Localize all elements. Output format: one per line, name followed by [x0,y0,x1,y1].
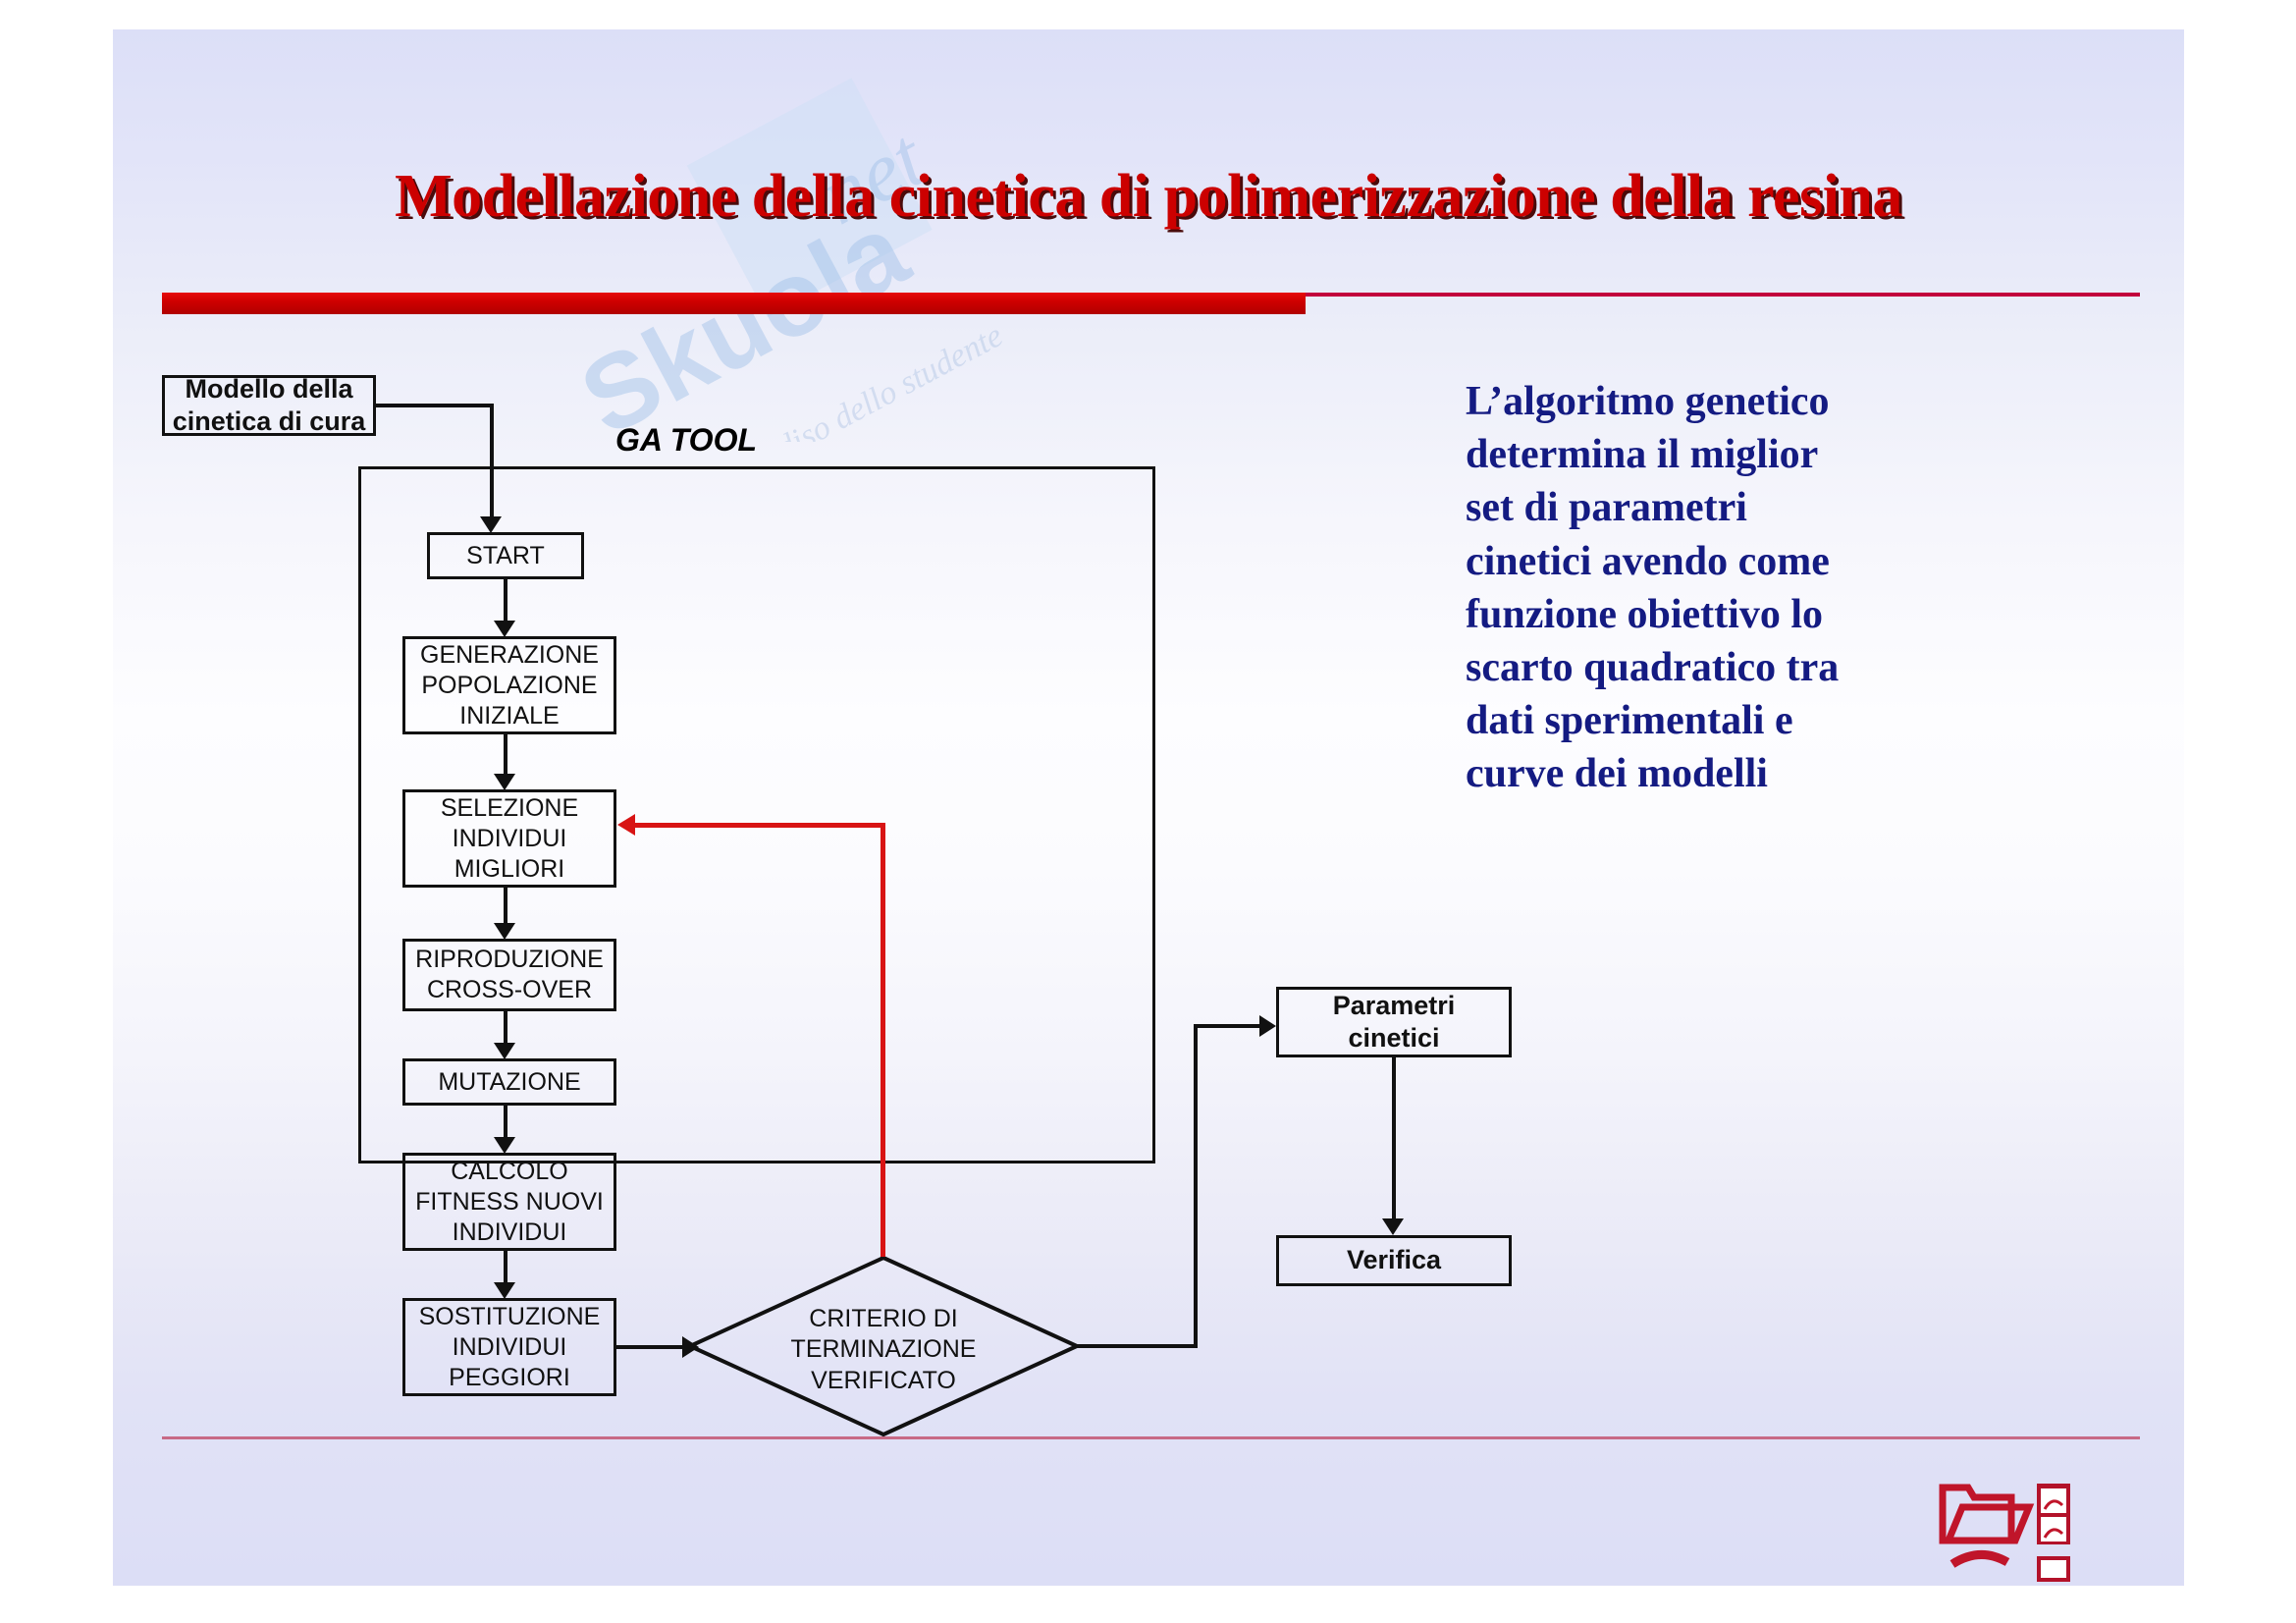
node-parametri-cinetici[interactable]: Parametri cinetici [1276,987,1512,1057]
edge-parametri-to-verifica-arrow [1382,1218,1404,1235]
paragraph-line: determina il miglior [1466,428,1976,481]
feedback-edge-arrow [617,814,635,836]
edge-start-arrow [494,621,515,637]
node-calcolo[interactable]: CALCOLO FITNESS NUOVI INDIVIDUI [402,1153,616,1251]
edge-riproduzione-arrow [494,1043,515,1059]
node-riproduzione[interactable]: RIPRODUZIONE CROSS-OVER [402,939,616,1011]
node-criterio-label: CRITERIO DI TERMINAZIONE VERIFICATO [687,1304,1080,1396]
footer-rule [162,1436,2140,1439]
title-rule-thick [162,293,1306,314]
screen-icon [2037,1556,2070,1582]
node-selezione[interactable]: SELEZIONE INDIVIDUI MIGLIORI [402,789,616,888]
edge-criterio-to-parametri-arrow [1259,1015,1276,1037]
paragraph-line: dati sperimentali e [1466,694,1976,747]
paragraph-line: cinetici avendo come [1466,535,1976,588]
paragraph-line: set di parametri [1466,481,1976,534]
edge-mutazione-arrow [494,1137,515,1154]
ga-tool-label: GA TOOL [615,422,757,459]
edge-sostituzione-to-criterio [616,1345,687,1349]
footer-icon-group [1939,1458,2135,1576]
edge-generazione-arrow [494,774,515,790]
skuolanet-watermark: Skuola net il paradiso dello studente [535,29,1163,442]
explanatory-paragraph: L’algoritmo genetico determina il miglio… [1466,375,1976,800]
node-start[interactable]: START [427,532,584,579]
edge-input-to-start-h [374,404,494,407]
paragraph-line: L’algoritmo genetico [1466,375,1976,428]
node-riproduzione-label: RIPRODUZIONE CROSS-OVER [415,945,604,1005]
node-modello-cinetica-label: Modello della cinetica di cura [173,373,366,439]
node-verifica[interactable]: Verifica [1276,1235,1512,1286]
node-mutazione[interactable]: MUTAZIONE [402,1058,616,1106]
edge-parametri-to-verifica [1392,1057,1396,1226]
edge-calcolo-arrow [494,1282,515,1299]
node-sostituzione[interactable]: SOSTITUZIONE INDIVIDUI PEGGIORI [402,1298,616,1396]
node-parametri-cinetici-label: Parametri cinetici [1333,990,1456,1055]
paragraph-line: scarto quadratico tra [1466,641,1976,694]
node-sostituzione-label: SOSTITUZIONE INDIVIDUI PEGGIORI [419,1302,601,1393]
edge-selezione-arrow [494,923,515,940]
node-modello-cinetica[interactable]: Modello della cinetica di cura [162,375,376,436]
feedback-edge-vertical [881,823,885,1257]
folder-icon [1943,1488,2029,1541]
node-calcolo-label: CALCOLO FITNESS NUOVI INDIVIDUI [415,1157,604,1248]
node-generazione[interactable]: GENERAZIONE POPOLAZIONE INIZIALE [402,636,616,734]
node-start-label: START [466,541,545,571]
edge-criterio-to-parametri-h2 [1194,1024,1264,1028]
slide-canvas: Skuola net il paradiso dello studente Mo… [113,29,2184,1586]
edge-criterio-to-parametri-h1 [1075,1344,1198,1348]
page-title: Modellazione della cinetica di polimeriz… [113,162,2184,232]
edge-criterio-to-parametri-v [1194,1024,1198,1346]
node-verifica-label: Verifica [1347,1244,1441,1276]
paragraph-line: funzione obiettivo lo [1466,588,1976,641]
node-selezione-label: SELEZIONE INDIVIDUI MIGLIORI [441,793,578,885]
node-criterio-decision[interactable]: CRITERIO DI TERMINAZIONE VERIFICATO [687,1255,1080,1437]
node-mutazione-label: MUTAZIONE [438,1067,580,1098]
film-strip-icon [2037,1484,2070,1544]
feedback-edge-horizontal [635,823,882,828]
paragraph-line: curve dei modelli [1466,747,1976,800]
node-generazione-label: GENERAZIONE POPOLAZIONE INIZIALE [420,640,599,731]
pen-icon [1952,1554,2007,1564]
